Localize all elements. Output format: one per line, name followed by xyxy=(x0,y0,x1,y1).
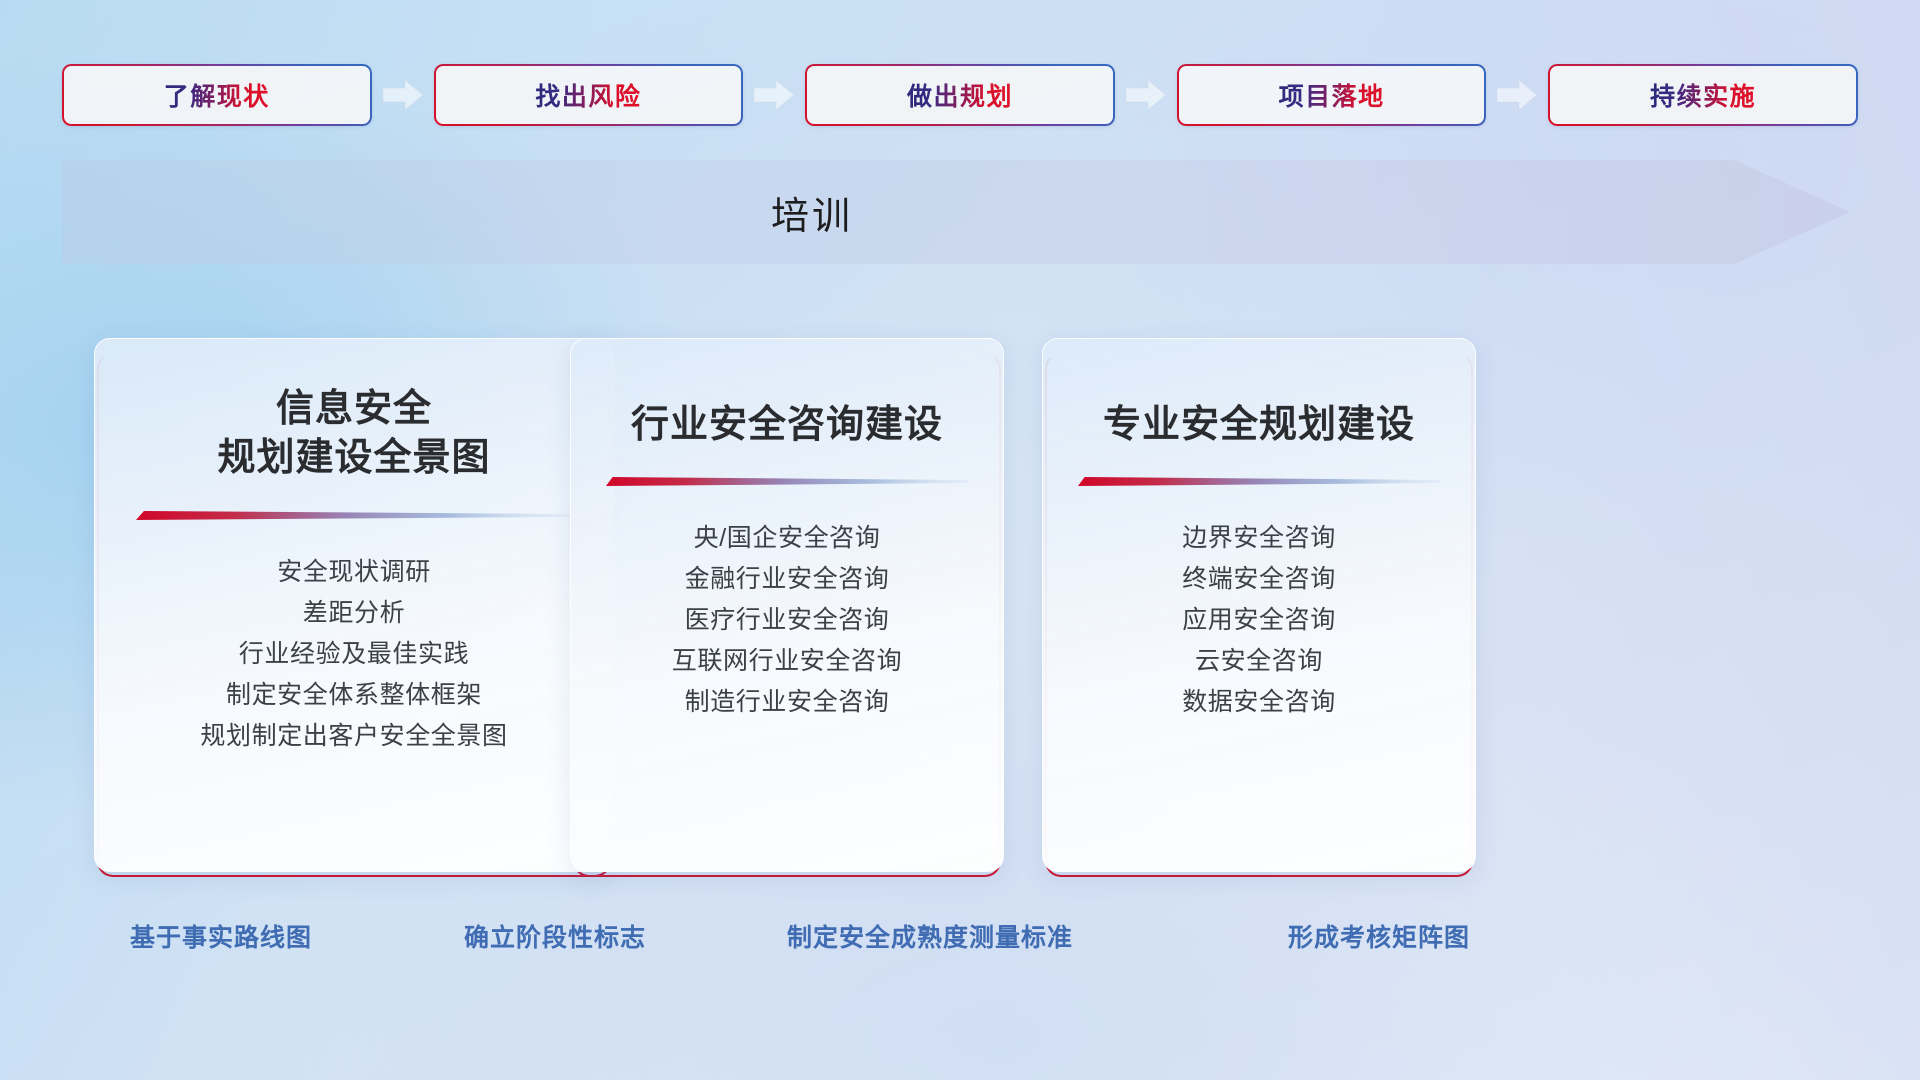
process-step-3[interactable]: 做出规划 xyxy=(805,64,1115,126)
process-step-label: 项目落地 xyxy=(1279,77,1385,113)
card-item-list: 边界安全咨询 终端安全咨询 应用安全咨询 云安全咨询 数据安全咨询 xyxy=(1043,518,1475,723)
card-information-security[interactable]: 信息安全 规划建设全景图 安全现状调研 xyxy=(94,338,614,872)
list-item: 云安全咨询 xyxy=(1043,641,1475,682)
training-banner: 培训 xyxy=(62,160,1850,264)
process-step-label: 找出风险 xyxy=(535,77,641,113)
list-item: 制定安全体系整体框架 xyxy=(95,675,613,716)
chevron-right-arrow-icon xyxy=(1486,75,1548,115)
card-title: 专业安全规划建设 xyxy=(1043,401,1475,450)
footnote-label: 基于事实路线图 xyxy=(130,918,312,954)
footnote-row: 基于事实路线图 确立阶段性标志 制定安全成熟度测量标准 形成考核矩阵图 xyxy=(0,918,1920,964)
list-item: 数据安全咨询 xyxy=(1043,682,1475,723)
list-item: 制造行业安全咨询 xyxy=(571,682,1003,723)
card-row: 信息安全 规划建设全景图 安全现状调研 xyxy=(0,338,1920,878)
process-step-2[interactable]: 找出风险 xyxy=(434,64,744,126)
card-divider-icon xyxy=(1078,476,1441,488)
card-title: 信息安全 规划建设全景图 xyxy=(95,385,613,484)
list-item: 医疗行业安全咨询 xyxy=(571,600,1003,641)
card-divider-icon xyxy=(136,510,571,522)
process-step-row: 了解现状 找出风险 做出规划 项目落地 xyxy=(62,64,1858,126)
footnote-label: 形成考核矩阵图 xyxy=(1288,918,1470,954)
process-step-1[interactable]: 了解现状 xyxy=(62,64,372,126)
list-item: 互联网行业安全咨询 xyxy=(571,641,1003,682)
process-step-5[interactable]: 持续实施 xyxy=(1548,64,1858,126)
chevron-right-arrow-icon xyxy=(372,75,434,115)
list-item: 边界安全咨询 xyxy=(1043,518,1475,559)
card-title: 行业安全咨询建设 xyxy=(571,401,1003,450)
process-step-label: 做出规划 xyxy=(907,77,1013,113)
footnote-label: 制定安全成熟度测量标准 xyxy=(787,918,1073,954)
list-item: 行业经验及最佳实践 xyxy=(95,634,613,675)
list-item: 规划制定出客户安全全景图 xyxy=(95,716,613,757)
list-item: 终端安全咨询 xyxy=(1043,559,1475,600)
list-item: 金融行业安全咨询 xyxy=(571,559,1003,600)
list-item: 应用安全咨询 xyxy=(1043,600,1475,641)
chevron-right-arrow-icon xyxy=(1115,75,1177,115)
card-professional-security-planning[interactable]: 专业安全规划建设 边界安全咨询 xyxy=(1042,338,1476,872)
process-step-label: 了解现状 xyxy=(164,77,270,113)
card-item-list: 安全现状调研 差距分析 行业经验及最佳实践 制定安全体系整体框架 规划制定出客户… xyxy=(95,552,613,757)
banner-title: 培训 xyxy=(62,160,1562,264)
card-divider-icon xyxy=(606,476,969,488)
list-item: 差距分析 xyxy=(95,593,613,634)
card-industry-security-consulting[interactable]: 行业安全咨询建设 央/国企安全咨询 xyxy=(570,338,1004,872)
process-step-4[interactable]: 项目落地 xyxy=(1177,64,1487,126)
footnote-label: 确立阶段性标志 xyxy=(464,918,646,954)
chevron-right-arrow-icon xyxy=(743,75,805,115)
list-item: 安全现状调研 xyxy=(95,552,613,593)
card-item-list: 央/国企安全咨询 金融行业安全咨询 医疗行业安全咨询 互联网行业安全咨询 制造行… xyxy=(571,518,1003,723)
list-item: 央/国企安全咨询 xyxy=(571,518,1003,559)
slide-canvas: 了解现状 找出风险 做出规划 项目落地 xyxy=(0,0,1920,1080)
process-step-label: 持续实施 xyxy=(1650,77,1756,113)
